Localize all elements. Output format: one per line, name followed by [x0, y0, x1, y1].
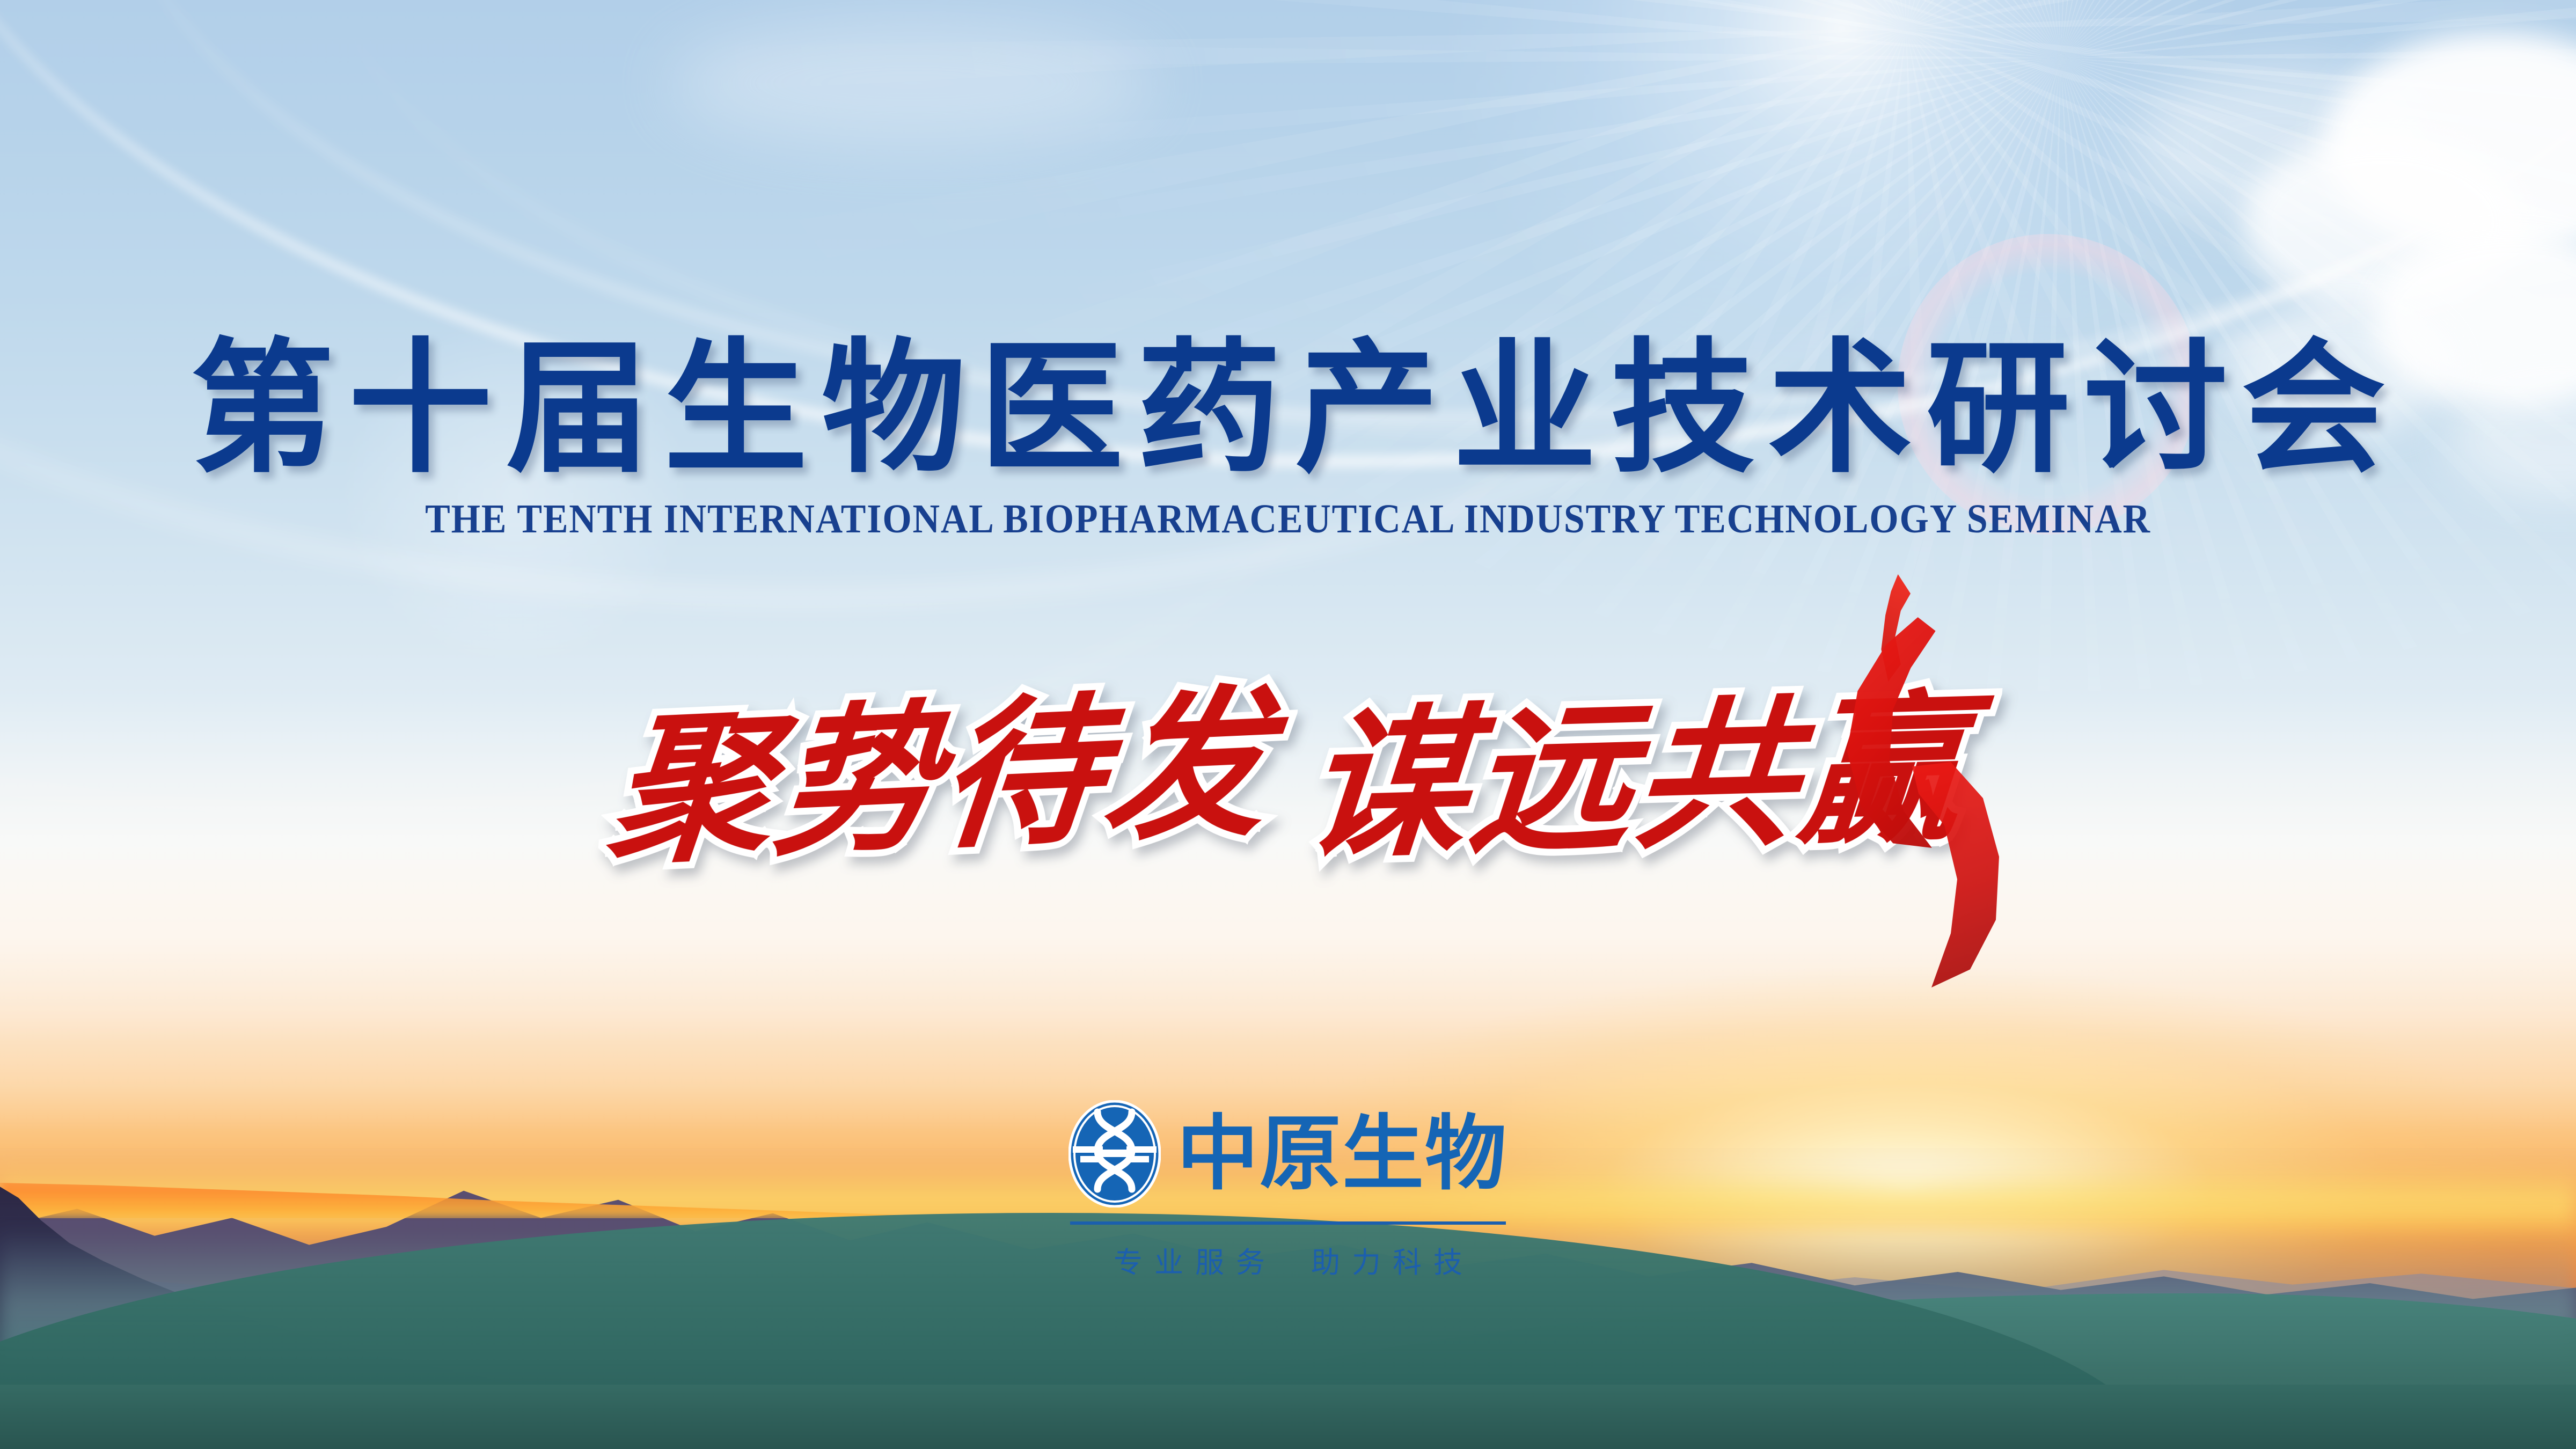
slogan-phrase-one: 聚势待发: [603, 683, 1278, 873]
title-block: 第十届生物医药产业技术研讨会 THE TENTH INTERNATIONAL B…: [0, 333, 2576, 543]
page-title: 第十届生物医药产业技术研讨会: [0, 333, 2576, 485]
poster-canvas: 第十届生物医药产业技术研讨会 THE TENTH INTERNATIONAL B…: [0, 0, 2576, 1449]
page-subtitle: THE TENTH INTERNATIONAL BIOPHARMACEUTICA…: [103, 496, 2473, 543]
logo-tagline-right: 助力科技: [1311, 1246, 1474, 1279]
foreground-ground: [0, 1385, 2576, 1449]
slogan-block: 聚势待发谋远共赢: [0, 698, 2576, 859]
logo-tagline-left: 专业服务: [1114, 1246, 1277, 1279]
logo-divider: [1070, 1221, 1506, 1225]
logo-wordmark: 中原生物: [1177, 1113, 1507, 1195]
logo-tagline: 专业服务助力科技: [1102, 1239, 1474, 1281]
company-logo: 中原生物 专业服务助力科技: [1069, 1100, 1507, 1281]
dna-helix-emblem-icon: [1069, 1100, 1161, 1207]
slogan-phrase-two: 谋远共赢: [1300, 689, 1971, 868]
